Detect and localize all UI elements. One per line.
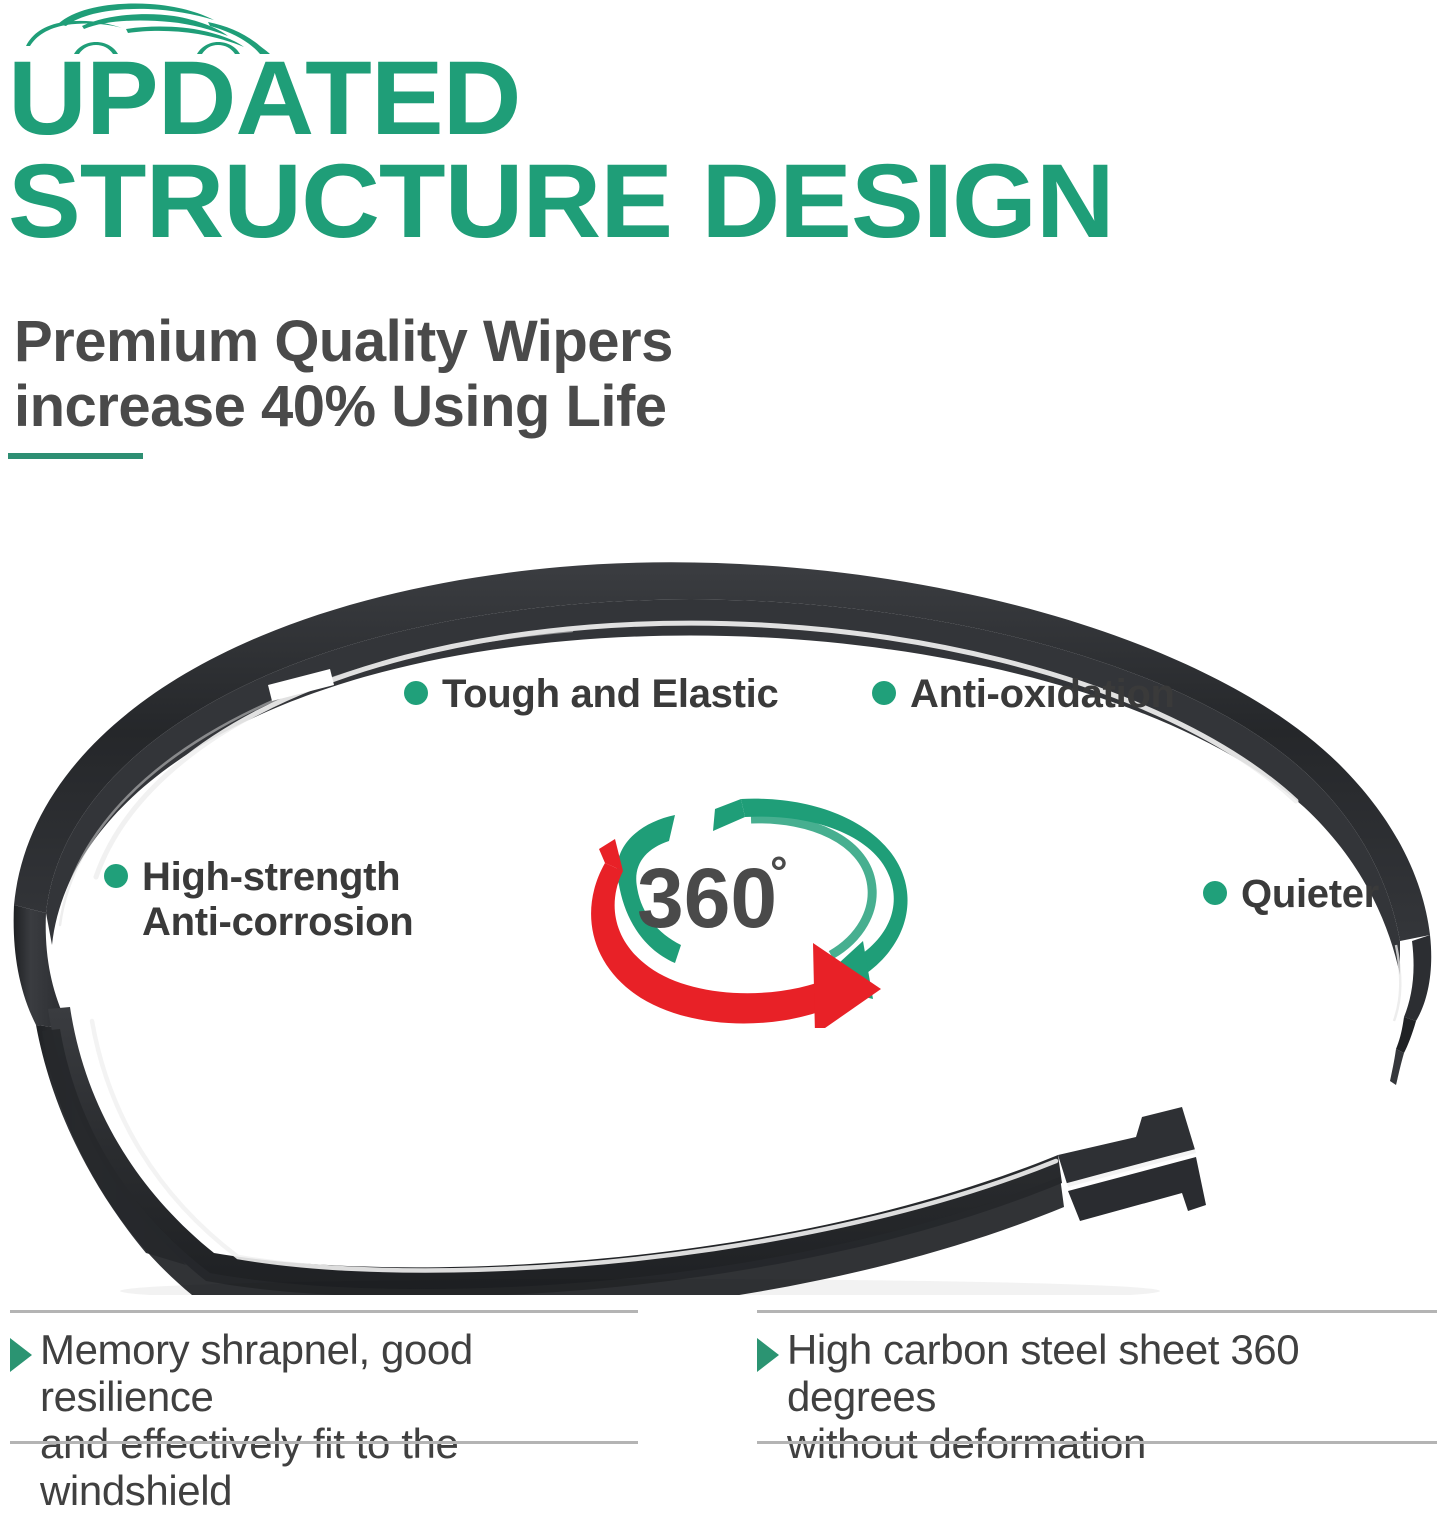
infographic-page: UPDATED STRUCTURE DESIGN Premium Quality… [0,0,1445,1448]
triangle-right-icon [10,1338,32,1372]
footer-right-text: High carbon steel sheet 360 degrees with… [787,1326,1437,1467]
page-title: UPDATED STRUCTURE DESIGN [8,48,1445,254]
footer-caption-left: Memory shrapnel, good resilience and eff… [10,1310,638,1448]
callout-anti-oxidation: Anti-oxidation [872,672,1175,717]
badge-value: 360 [637,851,777,945]
title-underline-rule [8,453,143,459]
bullet-dot-icon [404,681,428,705]
callout-label: Anti-oxidation [910,672,1175,717]
footer-caption-right: High carbon steel sheet 360 degrees with… [757,1310,1437,1448]
badge-degree-symbol: ° [770,848,788,897]
callout-tough-and-elastic: Tough and Elastic [404,672,778,717]
callout-label: Tough and Elastic [442,672,778,717]
bullet-dot-icon [872,681,896,705]
divider-line-bottom [10,1441,638,1444]
triangle-right-icon [757,1338,779,1372]
callout-high-strength-anti-corrosion: High-strength Anti-corrosion [104,855,413,945]
bullet-dot-icon [104,864,128,888]
360-degree-rotation-icon: 360 ° [565,793,935,1028]
callout-label: Quieter [1241,872,1379,917]
bullet-dot-icon [1203,881,1227,905]
callout-quieter: Quieter [1203,872,1379,917]
callout-label: High-strength Anti-corrosion [142,855,413,945]
divider-line-bottom [757,1441,1437,1444]
footer-left-text: Memory shrapnel, good resilience and eff… [40,1326,638,1514]
page-subtitle: Premium Quality Wipers increase 40% Usin… [14,310,1214,440]
